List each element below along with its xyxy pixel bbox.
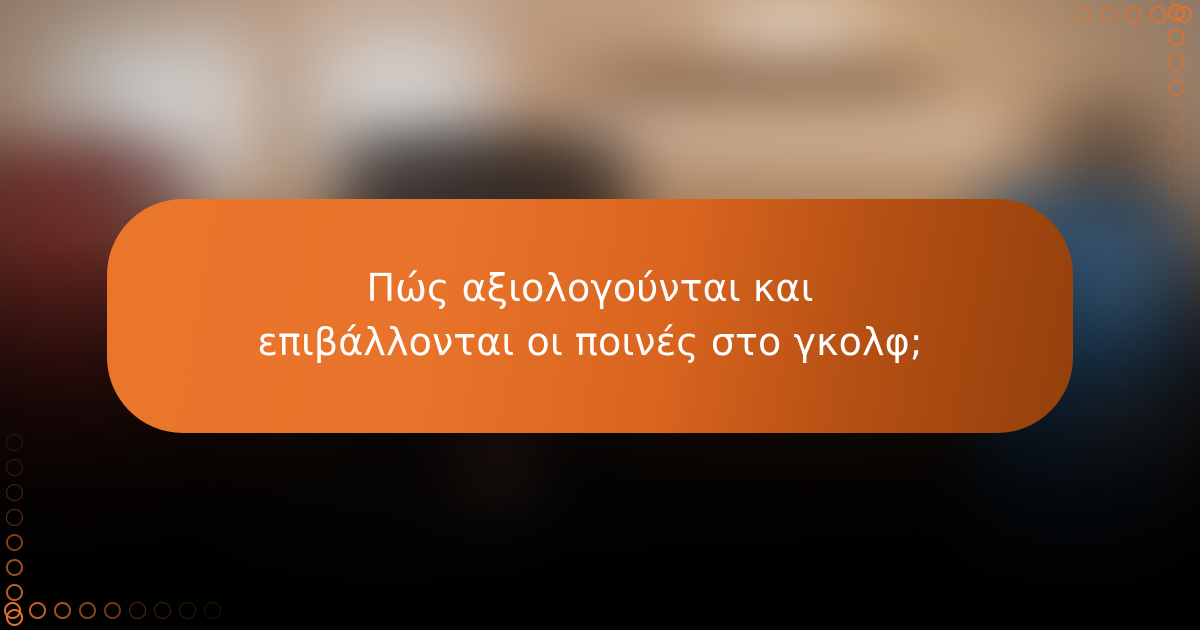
figure-right-highlight	[1061, 236, 1188, 384]
page-title: Πώς αξιολογούνται και επιβάλλονται οι πο…	[210, 262, 970, 370]
ceiling-lamp	[685, 0, 897, 55]
share-card-canvas: Πώς αξιολογούνται και επιβάλλονται οι πο…	[0, 0, 1200, 630]
background-floor	[197, 490, 579, 585]
window-frame	[269, 13, 290, 230]
background-warm-blob	[1056, 373, 1200, 500]
title-card: Πώς αξιολογούνται και επιβάλλονται οι πο…	[107, 199, 1073, 433]
doorway-band	[536, 64, 992, 98]
